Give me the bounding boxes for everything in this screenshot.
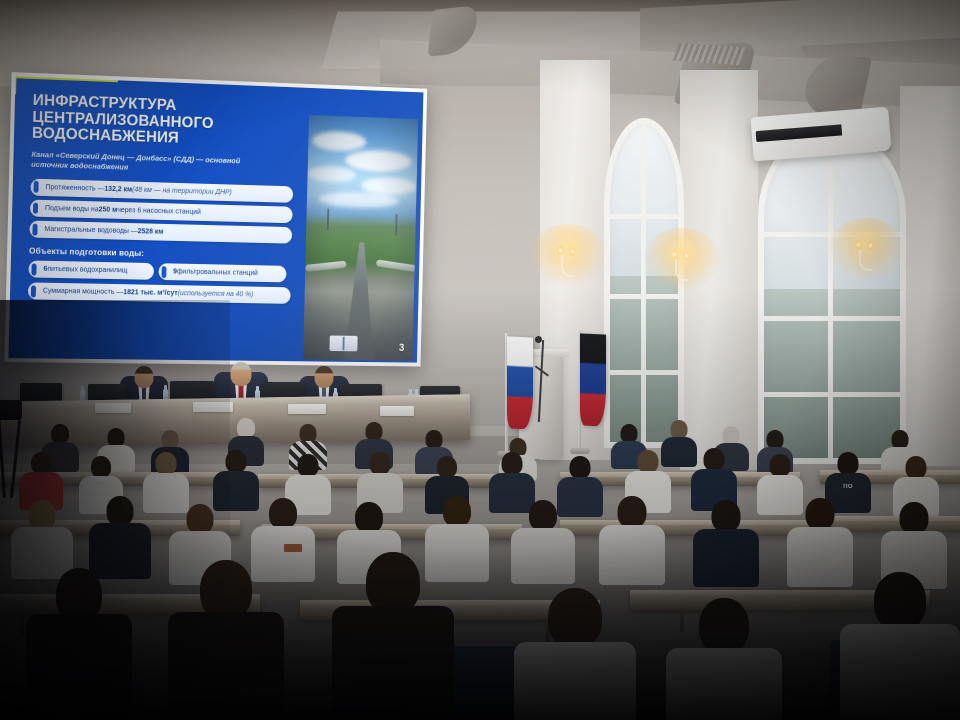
capacity-label: Суммарная мощность — (43, 287, 124, 297)
audience-person (692, 500, 760, 584)
slide-logo-icon (329, 336, 357, 352)
tripod-leg (0, 416, 5, 498)
audience-person (512, 588, 638, 720)
audience-person (88, 496, 152, 576)
slide-title: ИНФРАСТРУКТУРА ЦЕНТРАЛИЗОВАННОГО ВОДОСНА… (32, 93, 296, 151)
capacity-note: (используется на 40 %) (178, 289, 254, 299)
slide-facility-card: 6 питьевых водохранилищ (28, 261, 154, 280)
slide-fact-card-list: Протяженность — 132,2 км (48 км — на тер… (29, 178, 293, 244)
flag-cloth (507, 336, 533, 429)
ac-housing (840, 109, 888, 139)
slide-facility-card: 9 фильтровальных станций (158, 264, 286, 283)
slide-capacity-card: Суммарная мощность — 1821 тыс. м³/сут (и… (28, 283, 291, 304)
tripod-leg (10, 420, 21, 498)
audience-person (690, 448, 738, 508)
presentation-slide: ИНФРАСТРУКТУРА ЦЕНТРАЛИЗОВАННОГО ВОДОСНА… (8, 76, 423, 362)
fact-value: 250 м (99, 206, 118, 215)
fact-value: 2528 км (138, 228, 164, 237)
audience-person (166, 560, 286, 720)
slide-subtitle: Канал «Северский Донец — Донбасс» (СДД) … (31, 149, 264, 176)
slide-facility-card-row: 6 питьевых водохранилищ 9 фильтровальных… (28, 261, 291, 283)
slide-section-heading: Объекты подготовки воды: (29, 246, 292, 262)
wall-sconce (662, 240, 702, 286)
flag-cloth (580, 333, 606, 426)
chair (448, 646, 518, 720)
arched-window (758, 128, 906, 464)
nameplate (95, 403, 131, 413)
facility-label: питьевых водохранилищ (47, 265, 127, 275)
capacity-value: 1821 тыс. м³/сут (123, 288, 178, 298)
fact-value: 132,2 км (104, 185, 132, 195)
camera-operator (0, 372, 42, 492)
room-background: ИНФРАСТРУКТУРА ЦЕНТРАЛИЗОВАННОГО ВОДОСНА… (0, 0, 960, 720)
slide-fact-card: Подъем воды на 250 м через 6 насосных ст… (30, 200, 293, 224)
jacket-print-text: ПО (843, 484, 853, 491)
wall-sconce (548, 236, 588, 282)
wall-sconce (846, 230, 886, 276)
audience-person (10, 500, 74, 576)
slide-content-column: ИНФРАСТРУКТУРА ЦЕНТРАЛИЗОВАННОГО ВОДОСНА… (8, 76, 303, 361)
slide-fact-card: Протяженность — 132,2 км (48 км — на тер… (30, 178, 293, 202)
conference-hall-photo: ИНФРАСТРУКТУРА ЦЕНТРАЛИЗОВАННОГО ВОДОСНА… (0, 0, 960, 720)
slide-fact-card: Магистральные водоводы — 2528 км (29, 221, 292, 244)
fact-label: Подъем воды на (45, 204, 99, 214)
ac-grille (756, 124, 853, 142)
video-camera-icon (0, 400, 22, 420)
slide-photo-canal: 3 (303, 115, 418, 361)
audience-person (838, 572, 960, 720)
nameplate (380, 406, 414, 416)
audience-person (598, 496, 666, 582)
audience-person (330, 552, 456, 720)
audience-person (24, 568, 134, 720)
slide-page-number: 3 (399, 342, 405, 354)
fact-note: (48 км — на территории ДНР) (132, 185, 232, 197)
projection-screen: ИНФРАСТРУКТУРА ЦЕНТРАЛИЗОВАННОГО ВОДОСНА… (4, 72, 427, 366)
audience-person (510, 500, 576, 582)
nameplate (288, 404, 326, 414)
fact-note: через 6 насосных станций (117, 206, 201, 217)
microphone-icon (535, 336, 542, 343)
fact-label: Магистральные водоводы — (44, 225, 137, 236)
fact-label: Протяженность — (45, 183, 104, 193)
flag-base (570, 448, 590, 454)
audience-person (664, 598, 784, 720)
facility-label: фильтровальных станций (177, 268, 258, 278)
nameplate (193, 402, 233, 412)
shirt-badge (284, 544, 302, 552)
wall-pier (900, 86, 960, 466)
